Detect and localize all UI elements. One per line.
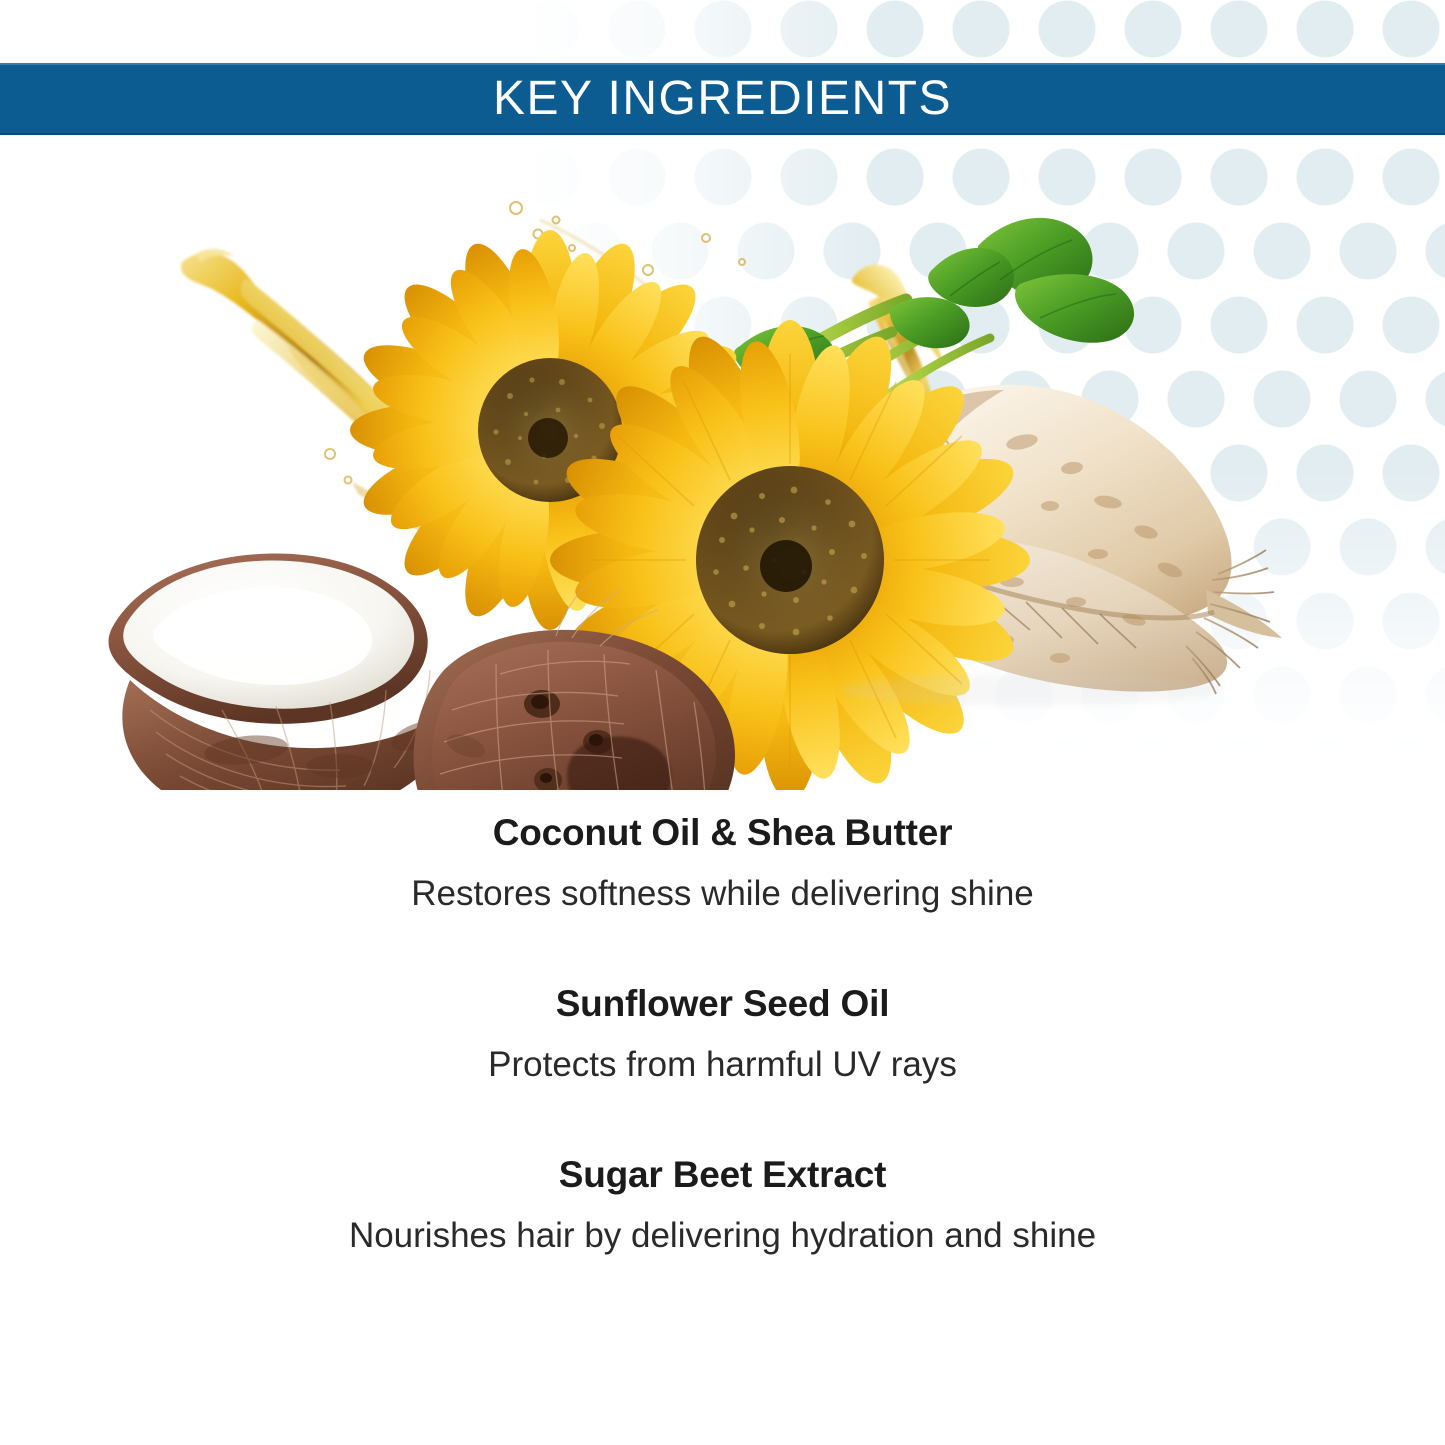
beet-shadow bbox=[840, 674, 1220, 706]
hero-ingredient-image bbox=[0, 150, 1445, 790]
ingredient-item-sugar-beet-extract: Sugar Beet Extract Nourishes hair by del… bbox=[0, 1150, 1445, 1259]
ingredient-name: Sugar Beet Extract bbox=[0, 1150, 1445, 1200]
ingredient-item-sunflower-seed-oil: Sunflower Seed Oil Protects from harmful… bbox=[0, 979, 1445, 1088]
ingredient-list: Coconut Oil & Shea Butter Restores softn… bbox=[0, 808, 1445, 1260]
ingredient-item-coconut-oil-shea-butter: Coconut Oil & Shea Butter Restores softn… bbox=[0, 808, 1445, 917]
key-ingredients-banner: KEY INGREDIENTS bbox=[0, 63, 1445, 135]
hero-illustration bbox=[0, 150, 1445, 790]
ingredient-description: Restores softness while delivering shine bbox=[0, 870, 1445, 917]
ingredient-description: Protects from harmful UV rays bbox=[0, 1041, 1445, 1088]
banner-title: KEY INGREDIENTS bbox=[493, 75, 952, 123]
ingredient-name: Sunflower Seed Oil bbox=[0, 979, 1445, 1029]
product-detail-panel: KEY INGREDIENTS bbox=[0, 0, 1445, 1445]
ingredient-description: Nourishes hair by delivering hydration a… bbox=[0, 1212, 1445, 1259]
ingredient-name: Coconut Oil & Shea Butter bbox=[0, 808, 1445, 858]
